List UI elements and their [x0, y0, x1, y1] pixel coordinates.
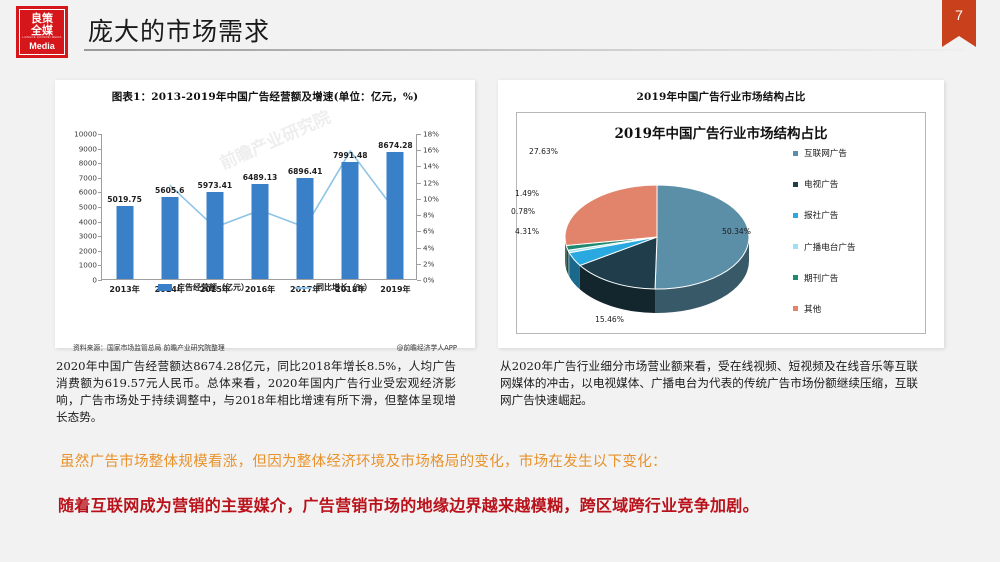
pie-slice-value: 0.78% — [511, 207, 535, 216]
axis-tick — [98, 163, 102, 164]
pie-legend-label: 报社广告 — [804, 209, 838, 221]
chart-legend: 广告经营额（亿元） 同比增长（%） — [55, 282, 475, 293]
y-tick-left: 8000 — [79, 159, 97, 168]
bar-line-chart-card: 图表1：2013-2019年中国广告经营额及增速(单位：亿元，%) 前瞻产业研究… — [55, 80, 475, 348]
bar — [252, 184, 269, 279]
legend-swatch-line-icon — [295, 287, 311, 289]
bar-value-label: 6489.13 — [243, 173, 278, 182]
axis-tick-right — [417, 215, 421, 216]
pie-slice-value: 27.63% — [529, 147, 558, 156]
header-divider — [84, 49, 964, 51]
pie-chart-heading: 2019年中国广告行业市场结构占比 — [517, 113, 925, 142]
pie-legend-label: 电视广告 — [804, 178, 838, 190]
brand-logo-tagline: LIANGCE QUANMEI MEDIA — [22, 37, 61, 40]
pie-legend-swatch-icon — [793, 275, 798, 280]
pie-legend-item: 期刊广告 — [793, 272, 915, 284]
legend-item-bar: 广告经营额（亿元） — [158, 282, 249, 293]
highlight-orange-text: 虽然广告市场整体规模看涨，但因为整体经济环境及市场格局的变化，市场在发生以下变化… — [60, 450, 960, 471]
pie-legend-item: 电视广告 — [793, 178, 915, 190]
axis-tick — [98, 251, 102, 252]
y-tick-left: 6000 — [79, 188, 97, 197]
bar — [161, 197, 178, 279]
axis-tick-right — [417, 264, 421, 265]
paragraph-right: 从2020年广告行业细分市场营业额来看，受在线视频、短视频及在线音乐等互联网媒体… — [500, 358, 918, 409]
slide-header: 良策 全媒 LIANGCE QUANMEI MEDIA Media 庞大的市场需… — [0, 0, 1000, 62]
page-number-text: 7 — [942, 0, 976, 30]
y-tick-right: 6% — [423, 227, 434, 236]
y-tick-left: 5000 — [79, 203, 97, 212]
bar-value-label: 6896.41 — [288, 167, 323, 176]
brand-logo-inner: 良策 全媒 LIANGCE QUANMEI MEDIA Media — [19, 9, 65, 55]
axis-tick — [98, 222, 102, 223]
page-number-badge: 7 — [942, 0, 976, 36]
chart-source-row: 资料来源：国家市场监管总局 前瞻产业研究院整理 @前瞻经济学人APP — [55, 342, 475, 352]
pie-legend-label: 广播电台广告 — [804, 241, 856, 253]
pie-slice — [565, 185, 657, 246]
y-tick-left: 1000 — [79, 261, 97, 270]
legend-label-line: 同比增长（%） — [316, 282, 372, 293]
axis-tick — [98, 280, 102, 281]
bar-chart-caption: 图表1：2013-2019年中国广告经营额及增速(单位：亿元，%) — [55, 80, 475, 104]
pie-legend-swatch-icon — [793, 151, 798, 156]
y-tick-right: 16% — [423, 146, 439, 155]
axis-tick — [98, 236, 102, 237]
bar-line-chart: 前瞻产业研究院 10000900080007000600050004000300… — [55, 106, 475, 311]
pie-legend-swatch-icon — [793, 244, 798, 249]
y-tick-right: 14% — [423, 162, 439, 171]
chart-source-app: @前瞻经济学人APP — [397, 342, 457, 352]
pie-slice-value: 4.31% — [515, 227, 539, 236]
pie-legend-label: 期刊广告 — [804, 272, 838, 284]
legend-swatch-bar-icon — [158, 284, 172, 291]
bar-value-label: 5605.6 — [155, 186, 184, 195]
y-tick-left: 2000 — [79, 246, 97, 255]
y-axis-left-labels: 1000090008000700060005000400030002000100… — [63, 134, 97, 280]
bar-value-label: 5019.75 — [107, 195, 142, 204]
axis-tick — [98, 178, 102, 179]
pie-legend-swatch-icon — [793, 213, 798, 218]
legend-label-bar: 广告经营额（亿元） — [177, 282, 249, 293]
pie-legend-item: 广播电台广告 — [793, 241, 915, 253]
axis-tick-right — [417, 280, 421, 281]
pie-legend-label: 互联网广告 — [804, 147, 847, 159]
y-tick-right: 8% — [423, 211, 434, 220]
y-tick-right: 4% — [423, 243, 434, 252]
axis-tick — [98, 265, 102, 266]
pie-chart-caption: 2019年中国广告行业市场结构占比 — [498, 80, 944, 104]
chart-source-text: 资料来源：国家市场监管总局 前瞻产业研究院整理 — [73, 342, 225, 352]
brand-logo-line1: 良策 — [31, 13, 53, 24]
brand-logo: 良策 全媒 LIANGCE QUANMEI MEDIA Media — [16, 6, 68, 58]
pie-legend-swatch-icon — [793, 182, 798, 187]
y-tick-left: 10000 — [74, 130, 97, 139]
slide: 良策 全媒 LIANGCE QUANMEI MEDIA Media 庞大的市场需… — [0, 0, 1000, 562]
paragraph-left: 2020年中国广告经营额达8674.28亿元，同比2018年增长8.5%，人均广… — [56, 358, 456, 426]
axis-tick-right — [417, 134, 421, 135]
legend-item-line: 同比增长（%） — [295, 282, 372, 293]
y-tick-right: 12% — [423, 178, 439, 187]
bar — [206, 192, 223, 279]
bar — [387, 152, 404, 279]
pie-chart-card: 2019年中国广告行业市场结构占比 2019年中国广告行业市场结构占比 50.3… — [498, 80, 944, 348]
bar — [116, 206, 133, 279]
axis-tick-right — [417, 166, 421, 167]
bar-value-label: 5973.41 — [198, 181, 233, 190]
plot-area: 5019.752013年5605.62014年5973.412015年6489.… — [101, 134, 417, 280]
axis-tick-right — [417, 199, 421, 200]
pie-slice-value: 1.49% — [515, 189, 539, 198]
brand-logo-media: Media — [29, 42, 55, 51]
axis-tick-right — [417, 248, 421, 249]
y-tick-left: 4000 — [79, 217, 97, 226]
pie-legend-item: 其他 — [793, 303, 915, 315]
brand-logo-line2: 全媒 — [31, 25, 53, 36]
bar — [297, 178, 314, 279]
bar-value-label: 8674.28 — [378, 141, 413, 150]
bar-value-label: 7991.48 — [333, 151, 368, 160]
axis-tick — [98, 207, 102, 208]
highlight-red-text: 随着互联网成为营销的主要媒介，广告营销市场的地缘边界越来越模糊，跨区域跨行业竞争… — [58, 492, 968, 516]
pie-legend: 互联网广告电视广告报社广告广播电台广告期刊广告其他 — [793, 143, 915, 329]
axis-tick — [98, 192, 102, 193]
pie-legend-item: 互联网广告 — [793, 147, 915, 159]
y-tick-left: 3000 — [79, 232, 97, 241]
bar — [342, 162, 359, 279]
axis-tick-right — [417, 231, 421, 232]
y-tick-right: 2% — [423, 259, 434, 268]
y-tick-right: 10% — [423, 194, 439, 203]
pie-legend-label: 其他 — [804, 303, 821, 315]
axis-tick-right — [417, 150, 421, 151]
pie-slice-value: 50.34% — [722, 227, 751, 236]
axis-tick-right — [417, 183, 421, 184]
pie-graphic — [517, 149, 787, 331]
pie-slice-value: 15.46% — [595, 315, 624, 324]
axis-tick — [98, 134, 102, 135]
page-title: 庞大的市场需求 — [88, 12, 270, 48]
pie-legend-swatch-icon — [793, 306, 798, 311]
y-axis-right-labels: 18%16%14%12%10%8%6%4%2%0% — [419, 134, 453, 280]
y-tick-left: 9000 — [79, 144, 97, 153]
y-tick-left: 7000 — [79, 173, 97, 182]
pie-chart-stage: 50.34%15.46%4.31%0.78%1.49%27.63% — [517, 149, 787, 331]
pie-slice-side — [568, 250, 569, 276]
axis-tick — [98, 149, 102, 150]
pie-chart-frame: 2019年中国广告行业市场结构占比 50.34%15.46%4.31%0.78%… — [516, 112, 926, 334]
y-tick-right: 18% — [423, 130, 439, 139]
pie-legend-item: 报社广告 — [793, 209, 915, 221]
